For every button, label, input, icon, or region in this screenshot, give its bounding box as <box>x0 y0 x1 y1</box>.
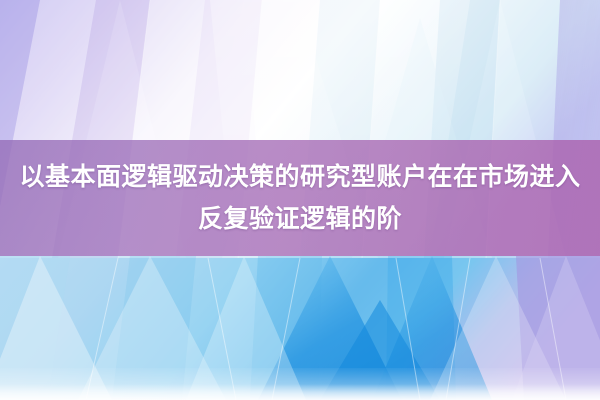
headline-overlay-band: 以基本面逻辑驱动决策的研究型账户在在市场进入 反复验证逻辑的阶 <box>0 140 600 256</box>
headline-line-1: 以基本面逻辑驱动决策的研究型账户在在市场进入 <box>19 156 580 198</box>
headline-line-2: 反复验证逻辑的阶 <box>198 198 402 240</box>
banner-image: 以基本面逻辑驱动决策的研究型账户在在市场进入 反复验证逻辑的阶 <box>0 0 600 400</box>
